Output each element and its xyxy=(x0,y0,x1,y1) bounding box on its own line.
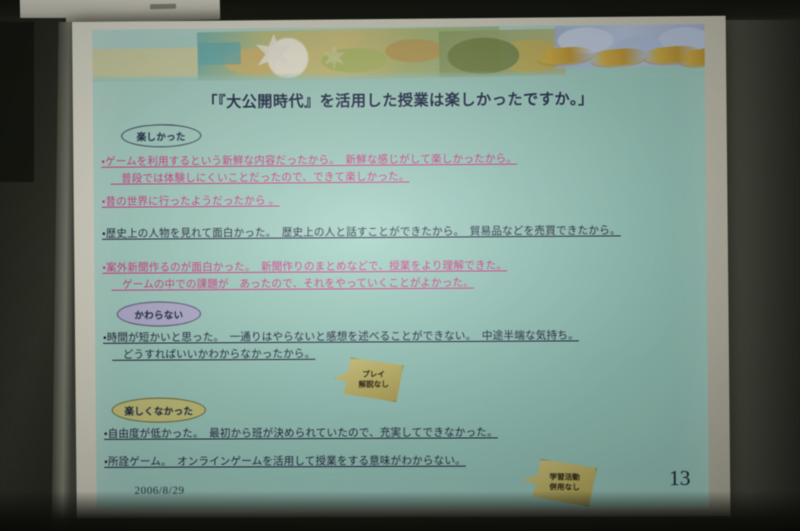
presentation-slide: 「『大公開時代』を活用した授業は楽しかったですか。」 楽しかった ・ゲームを利用… xyxy=(92,24,709,510)
answer-line: ・自由度が低かった。 最初から班が決められていたので、充実してできなかった。 xyxy=(104,423,701,442)
category-label-same: かわらない xyxy=(117,301,201,327)
answer-line: 普段では体験しにくいことだったので、できて楽しかった。 xyxy=(101,166,698,188)
answer-group-notfun-1: ・自由度が低かった。 最初から班が決められていたので、充実してできなかった。 xyxy=(104,423,701,442)
callout-play-no-explanation: プレイ 解説なし xyxy=(333,357,403,402)
category-label-text: 楽しかった xyxy=(137,129,186,143)
answer-line: ・歴史上の人物を見れて面白かった。 歴史上の人と話すことができたから。 貿易品な… xyxy=(102,222,699,243)
projection-screen: 「『大公開時代』を活用した授業は楽しかったですか。」 楽しかった ・ゲームを利用… xyxy=(72,16,731,518)
fixture-marking xyxy=(150,4,176,10)
answer-line: ゲームの中での課題が あったので、それをやっていくことがよかった。 xyxy=(102,273,699,294)
callout-line-2: 解説なし xyxy=(359,380,389,389)
answer-group-same-1: ・時間が短かいと思った。 一通りはやらないと感想を述べることができない。 中途半… xyxy=(103,327,701,364)
answer-group-notfun-2: ・所詮ゲーム。 オンラインゲームを活用して授業をする意味がわからない。 xyxy=(104,452,701,471)
answer-group-fun-4: ・案外新聞作るのが面白かった。 新聞作りのまとめなどで、授業をより理解できた。 … xyxy=(102,256,700,294)
answer-group-fun-1: ・ゲームを利用するという新鮮な内容だったから。 新鮮な感じがして楽しかったから。… xyxy=(101,149,699,188)
category-label-not-fun: 楽しくなかった xyxy=(112,397,206,422)
category-label-fun: 楽しかった xyxy=(121,124,201,148)
slide-title: 「『大公開時代』を活用した授業は楽しかったですか。」 xyxy=(93,87,706,113)
answer-group-fun-3: ・歴史上の人物を見れて面白かった。 歴史上の人と話すことができたから。 貿易品な… xyxy=(102,222,699,243)
answer-group-fun-2: ・昔の世界に行ったようだったから 。 xyxy=(102,189,699,210)
left-dark-panel xyxy=(0,22,34,182)
floor-shadow xyxy=(0,491,800,531)
category-label-text: かわらない xyxy=(134,307,183,321)
slide-header-banner xyxy=(92,24,705,82)
answer-line: どうすればいいかわからなかったから。 xyxy=(103,344,700,364)
slide-page-number: 13 xyxy=(669,466,691,491)
callout-text: プレイ 解説なし xyxy=(348,369,389,389)
answer-line: ・所詮ゲーム。 オンラインゲームを活用して授業をする意味がわからない。 xyxy=(104,452,701,471)
banner-teal-patch xyxy=(198,42,241,65)
category-label-text: 楽しくなかった xyxy=(124,403,193,417)
callout-text: 学習活動 併用なし xyxy=(539,472,580,493)
callout-line-1: 学習活動 xyxy=(549,472,579,481)
projected-slide-photo: 「『大公開時代』を活用した授業は楽しかったですか。」 楽しかった ・ゲームを利用… xyxy=(0,0,800,531)
callout-line-1: プレイ xyxy=(362,370,385,379)
answer-line: ・昔の世界に行ったようだったから 。 xyxy=(102,189,699,210)
